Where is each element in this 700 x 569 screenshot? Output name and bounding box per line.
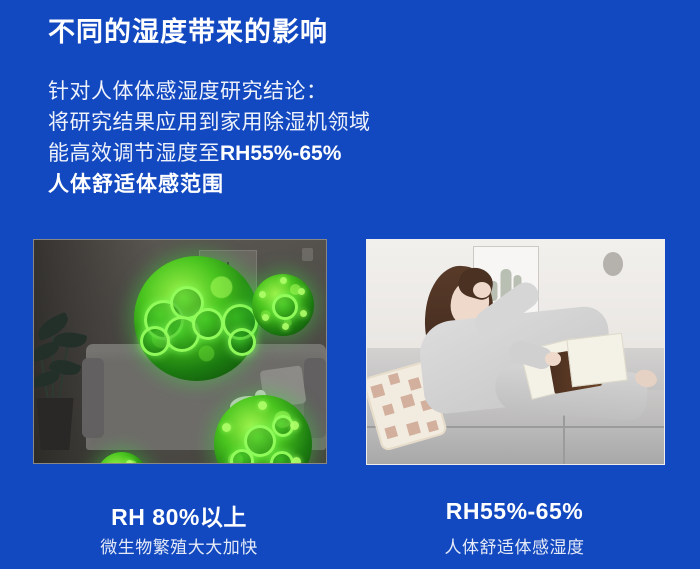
wall-speaker-icon [603, 252, 623, 276]
caption-left-sub: 微生物繁殖大大加快 [33, 533, 325, 558]
body-line-4: 人体舒适体感范围 [48, 169, 608, 200]
caption-right-sub: 人体舒适体感湿度 [366, 533, 663, 558]
body-line-2: 将研究结果应用到家用除湿机领域 [48, 107, 608, 138]
wall-switch-icon [302, 248, 313, 261]
body-text-block: 针对人体体感湿度研究结论： 将研究结果应用到家用除湿机领域 能高效调节湿度至RH… [48, 76, 608, 200]
body-line-1: 针对人体体感湿度研究结论： [48, 76, 608, 107]
hand-holding-book [545, 352, 561, 366]
hand-on-forehead [473, 282, 491, 298]
body-line-3-prefix: 能高效调节湿度至 [48, 142, 220, 165]
image-panel-right [366, 239, 665, 465]
plant-pot [34, 398, 76, 450]
image-panel-left [33, 239, 327, 464]
body-line-3: 能高效调节湿度至RH55%-65% [48, 138, 608, 169]
caption-left-main: RH 80%以上 [33, 498, 325, 532]
caption-right-main: RH55%-65% [366, 498, 663, 525]
germ-cluster-large [134, 256, 259, 381]
body-line-3-emphasis: RH55%-65% [220, 142, 341, 165]
sofa-arm-left [82, 358, 104, 438]
page-title: 不同的湿度带来的影响 [48, 18, 328, 48]
slide-root: 不同的湿度带来的影响 针对人体体感湿度研究结论： 将研究结果应用到家用除湿机领域… [0, 0, 700, 569]
germ-sphere-small [252, 274, 314, 336]
